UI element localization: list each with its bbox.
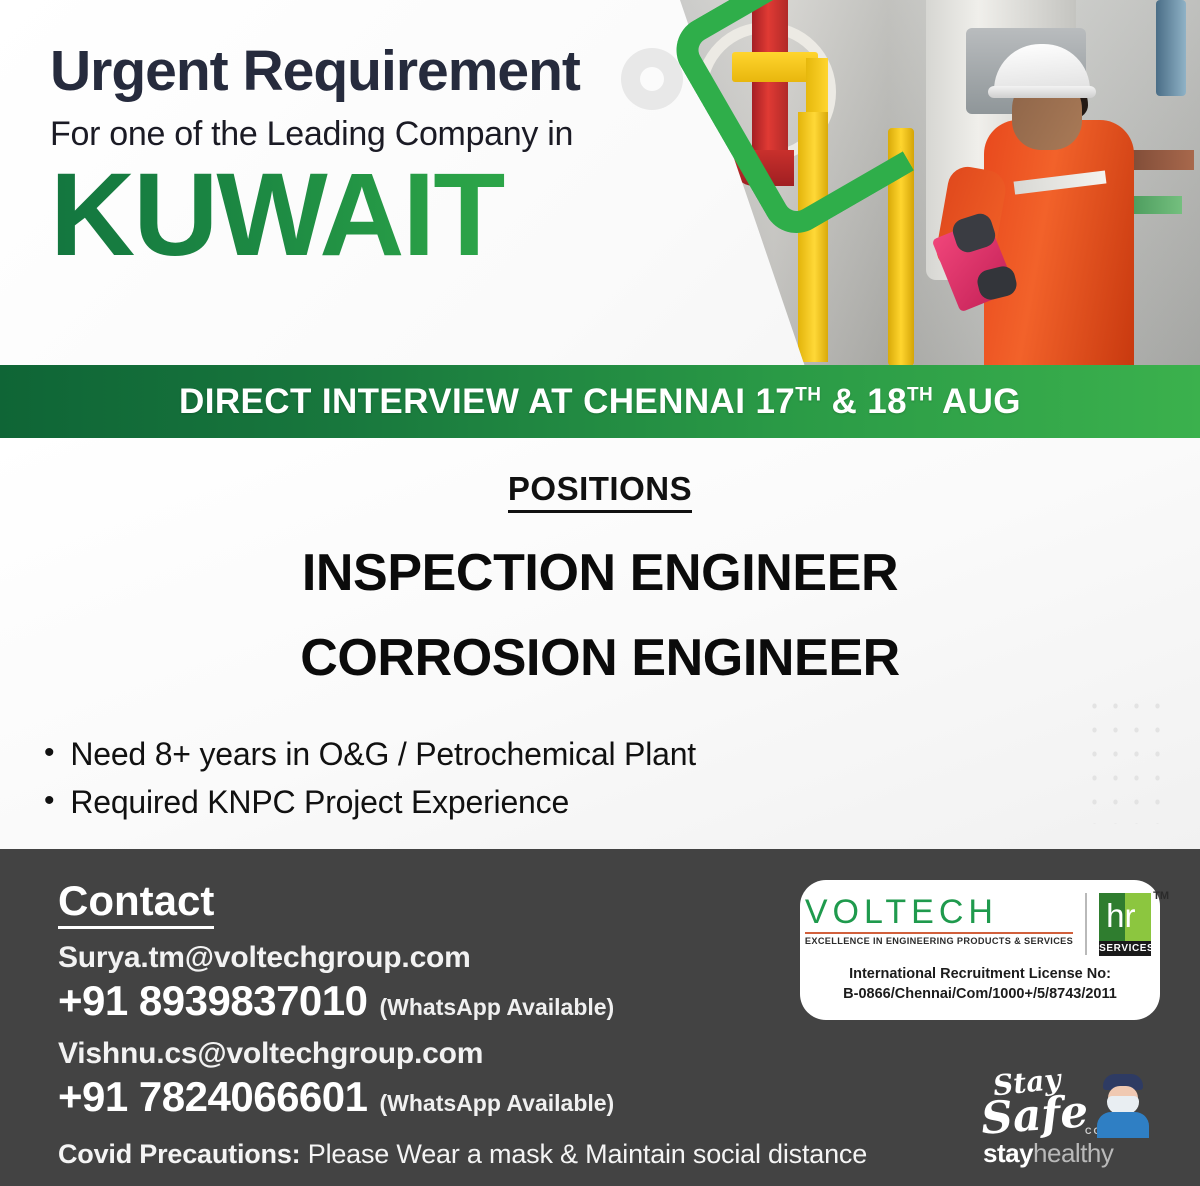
contact-heading-text: Contact [58,877,214,929]
whatsapp-note-2: (WhatsApp Available) [380,1090,615,1117]
voltech-logo-card: VOLTECH EXCELLENCE IN ENGINEERING PRODUC… [800,880,1160,1020]
positions-heading: POSITIONS [0,470,1200,508]
person-shirt [1097,1112,1149,1138]
requirement-text: Required KNPC Project Experience [70,778,569,826]
stay-healthy-light: healthy [1033,1138,1113,1168]
voltech-wordmark: VOLTECH [805,895,1073,929]
headline-block: Urgent Requirement For one of the Leadin… [50,42,670,271]
logo-divider [1085,893,1087,955]
voltech-underline [805,932,1073,934]
voltech-tagline: EXCELLENCE IN ENGINEERING PRODUCTS & SER… [805,936,1073,946]
positions-heading-text: POSITIONS [508,470,692,513]
stay-safe-badge: Stay Safe COVID-19 stayhealthy [975,1068,1175,1168]
interview-banner-text: DIRECT INTERVIEW AT CHENNAI 17TH & 18TH … [179,382,1021,422]
worker-coveralls [984,120,1134,366]
contact-email-1[interactable]: Surya.tm@voltechgroup.com [58,941,471,975]
header-section: Urgent Requirement For one of the Leadin… [0,0,1200,366]
whatsapp-note-1: (WhatsApp Available) [380,994,615,1021]
license-line-2: B-0866/Chennai/Com/1000+/5/8743/2011 [843,985,1117,1005]
interview-banner: DIRECT INTERVIEW AT CHENNAI 17TH & 18TH … [0,365,1200,438]
requirement-text: Need 8+ years in O&G / Petrochemical Pla… [70,730,696,778]
covid-label: Covid Precautions: [58,1139,300,1169]
contact-phone-row-1[interactable]: +91 8939837010 (WhatsApp Available) [58,977,614,1025]
dot-grid-decoration [1084,694,1174,824]
contact-email-2[interactable]: Vishnu.cs@voltechgroup.com [58,1037,483,1071]
photo-blue-pipe [1156,0,1186,96]
headline-country: KUWAIT [50,159,670,271]
license-info: International Recruitment License No: B-… [843,965,1117,1004]
banner-prefix: DIRECT INTERVIEW AT CHENNAI 17 [179,382,795,421]
contact-phone-row-2[interactable]: +91 7824066601 (WhatsApp Available) [58,1073,614,1121]
recruitment-poster: Urgent Requirement For one of the Leadin… [0,0,1200,1186]
bullet-dot-icon: • [44,730,54,775]
position-title-1: INSPECTION ENGINEER [0,543,1200,603]
voltech-wordmark-block: VOLTECH EXCELLENCE IN ENGINEERING PRODUC… [805,893,1073,946]
logo-row: VOLTECH EXCELLENCE IN ENGINEERING PRODUC… [805,893,1155,956]
bullet-dot-icon: • [44,778,54,823]
hr-services-bar: SERVICES [1099,941,1151,956]
masked-person-icon [1097,1074,1149,1136]
requirement-item: • Required KNPC Project Experience [44,778,696,826]
contact-heading: Contact [58,877,214,925]
hr-services-logo: hr SERVICES TM [1099,893,1155,956]
headline-subtitle: For one of the Leading Company in [50,116,670,153]
license-line-1: International Recruitment License No: [843,965,1117,985]
banner-ordinal-1: TH [795,384,821,405]
banner-ordinal-2: TH [907,384,933,405]
contact-phone-1[interactable]: +91 8939837010 [58,977,368,1025]
photo-green-band [1128,196,1182,214]
covid-precautions: Covid Precautions: Please Wear a mask & … [58,1139,867,1170]
photo-brown-band [1124,150,1194,170]
banner-middle: & 18 [821,382,907,421]
contact-phone-2[interactable]: +91 7824066601 [58,1073,368,1121]
trademark-icon: TM [1153,890,1169,902]
covid-text: Please Wear a mask & Maintain social dis… [300,1139,867,1169]
hr-letters: hr [1106,899,1135,932]
headline-urgent: Urgent Requirement [50,42,670,102]
position-title-2: CORROSION ENGINEER [0,628,1200,688]
requirements-list: • Need 8+ years in O&G / Petrochemical P… [44,730,696,826]
worker-hardhat-brim [988,86,1096,98]
positions-section: POSITIONS INSPECTION ENGINEER CORROSION … [0,438,1200,849]
stay-healthy-text: stayhealthy [983,1138,1113,1169]
requirement-item: • Need 8+ years in O&G / Petrochemical P… [44,730,696,778]
stay-healthy-bold: stay [983,1138,1033,1168]
stay-safe-safe: Safe [979,1086,1090,1144]
banner-suffix: AUG [933,382,1021,421]
